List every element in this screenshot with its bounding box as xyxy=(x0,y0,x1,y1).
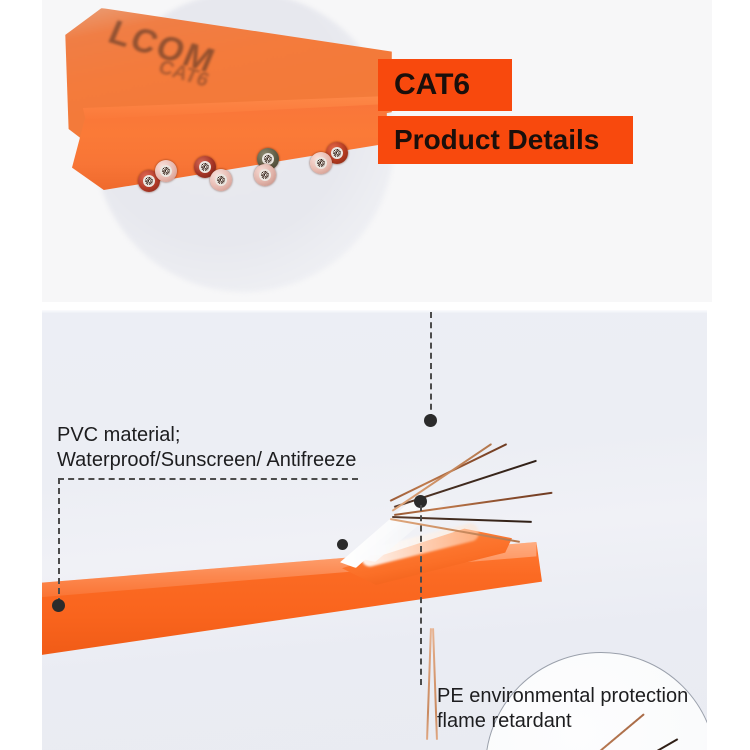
twisted-pair-2 xyxy=(194,152,240,178)
callout-marker-jacket xyxy=(337,539,348,550)
callout-label-pvc-material: PVC material; Waterproof/Sunscreen/ Anti… xyxy=(57,423,356,473)
conductor-white-orange xyxy=(310,152,332,174)
conductor-white-green xyxy=(254,164,276,186)
callout-leader-core-vertical xyxy=(430,312,432,420)
cat6-cable-cross-section-photo: LCOM CAT6 xyxy=(62,8,402,238)
twisted-pair-1 xyxy=(138,158,184,184)
twisted-pair-3 xyxy=(254,148,300,174)
callout-marker-core xyxy=(424,414,437,427)
callout-leader-pe-vertical xyxy=(420,505,422,685)
callout-leader-pvc-horizontal xyxy=(58,478,358,480)
badge-product-details: Product Details xyxy=(378,116,633,164)
badge-cat6: CAT6 xyxy=(378,59,512,111)
twisted-pair-4 xyxy=(310,142,356,168)
conductor-white-brown xyxy=(155,160,177,182)
magnified-copper-strand xyxy=(496,738,679,750)
callout-marker-pvc xyxy=(52,599,65,612)
conductor-white-red xyxy=(210,169,232,191)
callout-label-pe-flame-retardant: PE environmental protection flame retard… xyxy=(437,684,688,734)
callout-leader-pvc-vertical xyxy=(58,478,60,604)
